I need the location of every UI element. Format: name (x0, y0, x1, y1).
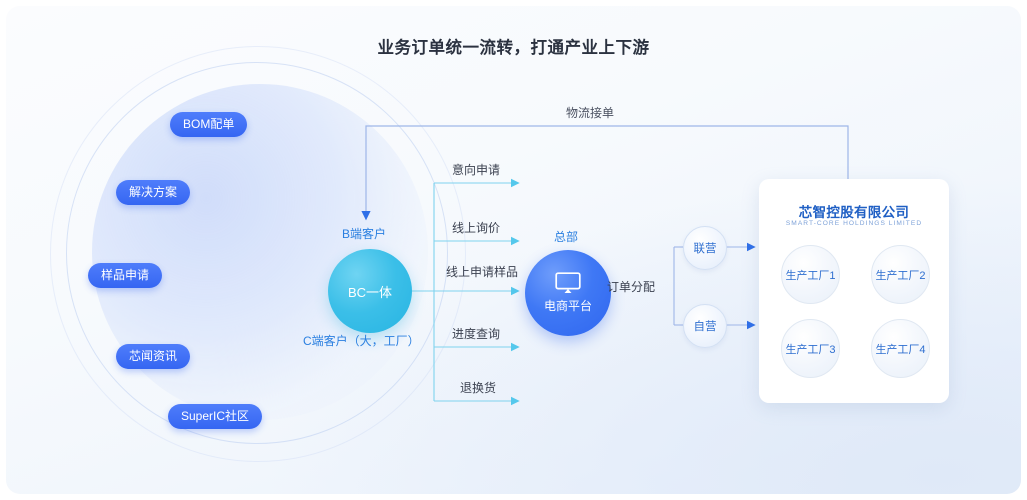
logistics-label: 物流接单 (566, 104, 614, 121)
branch-node-joint-venture[interactable]: 联营 (683, 226, 727, 270)
company-name: 芯智控股有限公司 (759, 201, 949, 221)
sidebar-tag[interactable]: SuperIC社区 (168, 404, 262, 429)
sidebar-tag[interactable]: 芯闻资讯 (116, 344, 190, 369)
order-allocation-label: 订单分配 (607, 278, 655, 295)
ecommerce-platform-node[interactable]: 电商平台 (525, 250, 611, 336)
b-customer-label: B端客户 (342, 225, 386, 242)
sidebar-tag[interactable]: 样品申请 (88, 263, 162, 288)
monitor-icon (555, 272, 581, 294)
flow-label: 线上申请样品 (446, 263, 518, 280)
sidebar-tag[interactable]: BOM配单 (170, 112, 247, 137)
c-customer-label: C端客户（大，工厂） (303, 332, 420, 349)
factory-label: 生产工厂3 (785, 341, 835, 357)
sidebar-tag[interactable]: 解决方案 (116, 180, 190, 205)
bc-node-label: BC一体 (348, 282, 392, 301)
flow-label: 退换货 (460, 379, 496, 396)
factory-node[interactable]: 生产工厂1 (781, 245, 840, 304)
factory-node[interactable]: 生产工厂4 (871, 319, 930, 378)
factory-label: 生产工厂1 (785, 267, 835, 283)
factory-label: 生产工厂2 (875, 267, 925, 283)
factory-label: 生产工厂4 (875, 341, 925, 357)
flow-label: 意向申请 (452, 161, 500, 178)
flow-label: 进度查询 (452, 325, 500, 342)
branch-node-label: 联营 (694, 240, 717, 256)
bc-node[interactable]: BC一体 (328, 249, 412, 333)
platform-node-label: 电商平台 (544, 297, 592, 314)
company-card: 芯智控股有限公司 SMART-CORE HOLDINGS LIMITED 生产工… (759, 179, 949, 403)
diagram-stage: 业务订单统一流转，打通产业上下游 (0, 0, 1027, 500)
company-subtitle: SMART-CORE HOLDINGS LIMITED (759, 220, 949, 227)
factory-node[interactable]: 生产工厂2 (871, 245, 930, 304)
flow-label: 线上询价 (452, 219, 500, 236)
branch-node-self-operated[interactable]: 自营 (683, 304, 727, 348)
branch-node-label: 自营 (694, 318, 717, 334)
factory-node[interactable]: 生产工厂3 (781, 319, 840, 378)
diagram-canvas: 业务订单统一流转，打通产业上下游 (6, 6, 1021, 494)
headquarters-label: 总部 (554, 228, 578, 245)
